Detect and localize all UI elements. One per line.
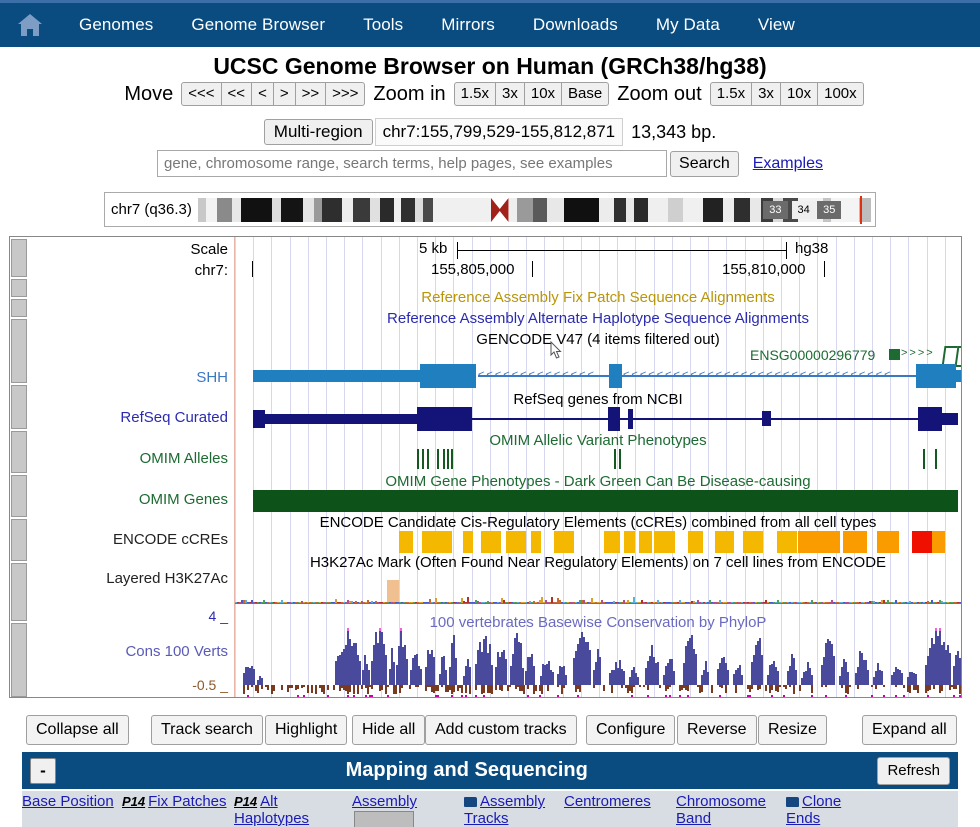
conservation-negative-bar <box>453 685 455 692</box>
ideogram-band <box>370 198 379 222</box>
track-handle-ruler[interactable] <box>11 239 27 277</box>
conservation-negative-cap <box>475 695 477 697</box>
conservation-saturation-cap <box>400 628 402 631</box>
conservation-negative-cap <box>353 695 355 697</box>
omim-allele-tick[interactable] <box>437 449 439 469</box>
conservation-negative-cap <box>577 695 579 697</box>
conservation-bar <box>777 671 779 685</box>
conservation-negative-bar <box>563 685 565 688</box>
conservation-negative-bar <box>639 685 641 687</box>
conservation-negative-cap <box>895 695 897 697</box>
conservation-negative-cap <box>771 695 773 697</box>
zoom-out-label: Zoom out <box>617 83 701 106</box>
conservation-negative-bar <box>603 685 605 691</box>
refseq-exon-5[interactable] <box>762 411 771 426</box>
omim-allele-tick[interactable] <box>614 449 616 469</box>
track-list-link[interactable]: Assembly <box>352 793 417 810</box>
conservation-negative-cap <box>825 695 827 697</box>
ccre-element[interactable] <box>624 531 635 553</box>
configure-button[interactable]: Configure <box>586 715 675 745</box>
shh-intron-line-1 <box>478 375 613 377</box>
ideogram-band <box>533 198 546 222</box>
conservation-bar <box>589 650 591 685</box>
conservation-negative-bar <box>323 685 325 694</box>
conservation-negative-bar <box>251 685 253 687</box>
ideogram-band <box>241 198 272 222</box>
ccre-element[interactable] <box>877 531 899 553</box>
move-label: Move <box>124 83 173 106</box>
track-title-refseq: RefSeq genes from NCBI <box>235 391 961 408</box>
conservation-bar <box>761 655 763 685</box>
nav-item-mirrors[interactable]: Mirrors <box>422 15 514 35</box>
conservation-negative-bar <box>593 685 595 688</box>
conservation-negative-bar <box>875 685 877 689</box>
conservation-negative-bar <box>315 685 317 694</box>
zoom-in-label: Zoom in <box>373 83 445 106</box>
conservation-negative-bar <box>557 685 559 687</box>
track-label-omim-genes[interactable]: OMIM Genes <box>139 491 228 508</box>
conservation-bar <box>867 670 869 685</box>
conservation-bar <box>847 672 849 685</box>
conservation-negative-cap <box>539 695 541 697</box>
nav-item-view[interactable]: View <box>739 15 814 35</box>
conservation-negative-bar <box>291 685 293 688</box>
track-data-column[interactable]: 5 kb hg38 155,805,000 155,810,000 Refere… <box>235 237 961 697</box>
patch-version-badge: P14 <box>234 794 257 809</box>
conservation-negative-bar <box>955 685 957 689</box>
conservation-negative-cap <box>783 695 785 697</box>
conservation-negative-cap <box>347 695 349 697</box>
conservation-bar <box>949 653 951 685</box>
ccre-element[interactable] <box>743 531 763 553</box>
conservation-negative-bar <box>395 685 397 694</box>
ccre-element[interactable] <box>843 531 867 553</box>
conservation-negative-bar <box>547 685 549 691</box>
ideogram-label: chr7 (q36.3) <box>105 201 198 218</box>
omim-allele-tick[interactable] <box>427 449 429 469</box>
refseq-exon-3[interactable] <box>608 407 620 431</box>
zoom-out-button-group: 1.5x 3x 10x 100x <box>710 82 864 106</box>
conservation-bar <box>833 656 835 685</box>
track-list-item[interactable]: Clone Ends <box>786 791 858 827</box>
conservation-bar <box>533 666 535 685</box>
track-title-fix-patch: Reference Assembly Fix Patch Sequence Al… <box>235 289 961 306</box>
track-label-omim-alleles[interactable]: OMIM Alleles <box>140 450 228 467</box>
resize-button[interactable]: Resize <box>758 715 827 745</box>
conservation-bar <box>522 668 524 685</box>
conservation-negative-bar <box>401 685 403 688</box>
conservation-negative-bar <box>857 685 859 689</box>
track-label-h3k27ac[interactable]: Layered H3K27Ac <box>106 570 228 587</box>
add-custom-tracks-button[interactable]: Add custom tracks <box>425 715 577 745</box>
collapse-all-button[interactable]: Collapse all <box>26 715 129 745</box>
conservation-bar <box>673 671 675 685</box>
refseq-intron-line-3 <box>633 418 762 420</box>
ideogram-band <box>564 198 599 222</box>
ideogram-band <box>634 198 647 222</box>
shh-exon-1[interactable] <box>253 370 420 382</box>
conservation-negative-bar <box>353 685 355 694</box>
track-title-ccre: ENCODE Candidate Cis-Regulatory Elements… <box>235 514 961 531</box>
omim-allele-tick[interactable] <box>417 449 419 469</box>
nav-item-genomes[interactable]: Genomes <box>60 15 172 35</box>
conservation-negative-bar <box>793 685 795 694</box>
page-title: UCSC Genome Browser on Human (GRCh38/hg3… <box>0 53 980 80</box>
shh-exon-2[interactable] <box>420 364 476 388</box>
move-button-group: <<< << < > >> >>> <box>181 82 365 106</box>
conservation-saturation-cap <box>347 628 349 631</box>
conservation-negative-cap <box>365 695 367 697</box>
conservation-negative-bar <box>441 685 443 687</box>
conservation-negative-bar <box>371 685 373 689</box>
conservation-negative-bar <box>779 685 781 687</box>
ccre-element[interactable] <box>715 531 733 553</box>
track-label-encode-ccres[interactable]: ENCODE cCREs <box>113 531 228 548</box>
track-label-chrom: chr7: <box>195 262 228 279</box>
conservation-negative-bar <box>501 685 503 691</box>
track-title-gencode: GENCODE V47 (4 items filtered out) <box>235 331 961 348</box>
ideogram-band-label: 34 <box>792 201 816 219</box>
conservation-negative-cap <box>959 695 961 697</box>
track-search-button[interactable]: Track search <box>151 715 263 745</box>
conservation-negative-bar <box>669 685 671 687</box>
zoom-in-base-button[interactable]: Base <box>561 82 609 106</box>
conservation-negative-bar <box>243 685 245 694</box>
conservation-negative-cap <box>749 695 751 697</box>
track-list-grid: Base PositionP14Fix PatchesP14Alt Haplot… <box>22 791 958 827</box>
search-button[interactable]: Search <box>670 151 739 177</box>
ccre-element[interactable] <box>932 531 945 553</box>
mapping-sequencing-section-header: - Mapping and Sequencing Refresh <box>22 752 958 789</box>
ccre-element[interactable] <box>639 531 652 553</box>
ccre-element[interactable] <box>422 531 453 553</box>
conservation-bar <box>393 662 395 685</box>
ideogram-band <box>648 198 668 222</box>
conservation-bar <box>901 673 903 685</box>
track-title-alt-hap: Reference Assembly Alternate Haplotype S… <box>235 310 961 327</box>
conservation-negative-bar <box>735 685 737 693</box>
track-list-link[interactable]: Fix Patches <box>148 793 226 810</box>
conservation-negative-cap <box>665 695 667 697</box>
track-handle-conservation[interactable] <box>11 623 27 697</box>
base-pair-count: 13,343 bp. <box>631 122 716 143</box>
centromere-marker <box>491 198 509 222</box>
patch-version-badge: P14 <box>122 794 145 809</box>
conservation-bar <box>637 677 639 685</box>
omim-allele-tick[interactable] <box>422 449 424 469</box>
conservation-negative-bar <box>361 685 363 689</box>
mouse-cursor <box>548 341 562 359</box>
ccre-element[interactable] <box>554 531 574 553</box>
reverse-button[interactable]: Reverse <box>677 715 757 745</box>
conservation-negative-bar <box>257 685 259 693</box>
shh-exon-3[interactable] <box>609 364 622 388</box>
conservation-negative-bar <box>281 685 283 690</box>
conservation-negative-cap <box>461 695 463 697</box>
ideogram-band <box>198 198 206 222</box>
ccre-element[interactable] <box>604 531 620 553</box>
ccre-element[interactable] <box>506 531 526 553</box>
track-label-refseq[interactable]: RefSeq Curated <box>120 409 228 426</box>
move-right-button[interactable]: > <box>273 82 296 106</box>
conservation-bar <box>253 669 255 685</box>
ccre-element[interactable] <box>688 531 703 553</box>
omim-gene-bar[interactable] <box>253 490 958 512</box>
nav-item-genome-browser[interactable]: Genome Browser <box>172 15 344 35</box>
ideogram-band <box>599 198 614 222</box>
ideogram-band <box>668 198 683 222</box>
ideogram-band <box>509 198 517 222</box>
conservation-bar <box>707 672 709 685</box>
track-list-item[interactable]: Centromeres <box>564 791 676 827</box>
nav-item-downloads[interactable]: Downloads <box>514 15 637 35</box>
conservation-negative-cap <box>927 695 929 697</box>
conservation-negative-bar <box>725 685 727 693</box>
ideogram-band <box>433 198 491 222</box>
conservation-negative-bar <box>621 685 623 688</box>
ideogram-band <box>734 198 750 222</box>
zoom-out-10x-button[interactable]: 10x <box>780 82 818 106</box>
conservation-negative-bar <box>759 685 761 689</box>
move-left-button[interactable]: < <box>251 82 274 106</box>
conservation-negative-cap <box>953 695 955 697</box>
conservation-negative-bar <box>541 685 543 694</box>
conservation-negative-bar <box>267 685 269 690</box>
position-row: Multi-region chr7:155,799,529-155,812,87… <box>0 118 980 146</box>
ideogram-position-marker <box>860 196 862 224</box>
zoom-in-3x-button[interactable]: 3x <box>495 82 525 106</box>
ideogram-band <box>750 198 761 222</box>
zoom-out-3x-button[interactable]: 3x <box>751 82 781 106</box>
conservation-negative-cap <box>451 695 453 697</box>
gencode-gene-exon[interactable] <box>889 349 900 360</box>
chromosome-ideogram[interactable]: chr7 (q36.3) 333435 <box>104 192 876 227</box>
track-list-item[interactable]: Base Position <box>22 791 122 827</box>
conservation-bar <box>505 659 507 685</box>
ideogram-band <box>314 198 322 222</box>
position-display[interactable]: chr7:155,799,529-155,812,871 <box>375 118 624 146</box>
conservation-negative-bar <box>297 685 299 689</box>
conservation-negative-cap <box>687 695 689 697</box>
examples-link[interactable]: Examples <box>753 155 823 173</box>
conservation-negative-cap <box>719 695 721 697</box>
conservation-negative-cap <box>437 695 439 697</box>
ideogram-bands[interactable]: 333435 <box>198 198 871 222</box>
refseq-exon-6b[interactable] <box>918 413 958 425</box>
conservation-negative-bar <box>417 685 419 687</box>
gencode-gene-label-text[interactable]: ENSG00000296779 <box>750 347 875 363</box>
zoom-in-1.5x-button[interactable]: 1.5x <box>454 82 496 106</box>
track-label-conservation[interactable]: Cons 100 Verts <box>125 643 228 660</box>
conservation-negative-cap <box>811 695 813 697</box>
track-handle-gencode[interactable] <box>11 319 27 383</box>
ideogram-band <box>703 198 723 222</box>
zoom-in-button-group: 1.5x 3x 10x Base <box>454 82 610 106</box>
conservation-bar <box>727 670 729 685</box>
track-title-omim-gene: OMIM Gene Phenotypes - Dark Green Can Be… <box>235 473 961 490</box>
refseq-exon-2[interactable] <box>417 407 472 431</box>
search-input[interactable] <box>157 150 667 177</box>
conservation-bar <box>623 671 625 685</box>
omim-allele-tick[interactable] <box>447 449 449 469</box>
track-handle-omim-genes[interactable] <box>11 475 27 517</box>
track-label-scale: Scale <box>190 241 228 258</box>
zoom-out-100x-button[interactable]: 100x <box>817 82 864 106</box>
omim-allele-tick[interactable] <box>443 449 445 469</box>
track-title-omim-allelic: OMIM Allelic Variant Phenotypes <box>235 432 961 449</box>
conservation-negative-bar <box>799 685 801 691</box>
conservation-saturation-cap <box>939 628 941 631</box>
track-handle-althap[interactable] <box>11 299 27 317</box>
conservation-bar <box>433 657 435 685</box>
conservation-bar <box>565 675 567 685</box>
conservation-negative-bar <box>579 685 581 692</box>
track-handle-h3k27ac[interactable] <box>11 563 27 621</box>
scale-ruler-line <box>457 250 787 251</box>
ideogram-band <box>303 198 314 222</box>
conservation-bar <box>695 654 697 685</box>
conservation-negative-bar <box>933 685 935 689</box>
track-list-item[interactable]: Assembly <box>352 791 464 827</box>
ideogram-band <box>614 198 626 222</box>
zoom-out-1.5x-button[interactable]: 1.5x <box>710 82 752 106</box>
section-collapse-button[interactable]: - <box>30 758 56 784</box>
ccre-element[interactable] <box>798 531 840 553</box>
folder-icon <box>786 797 799 807</box>
conservation-bar <box>491 665 493 685</box>
conservation-bar <box>881 671 883 685</box>
conservation-negative-bar <box>811 685 813 693</box>
ideogram-band <box>322 198 342 222</box>
shh-exon-4b[interactable] <box>916 370 962 382</box>
track-handle-omim-alleles[interactable] <box>11 431 27 473</box>
conservation-bar <box>915 674 917 685</box>
hide-all-button[interactable]: Hide all <box>352 715 425 745</box>
coord-tick-mark-2 <box>824 261 825 277</box>
conservation-negative-bar <box>909 685 911 693</box>
ideogram-band <box>342 198 353 222</box>
track-list-link[interactable]: Chromosome Band <box>676 793 766 827</box>
conservation-negative-cap <box>527 695 529 697</box>
conservation-negative-cap <box>465 695 467 697</box>
section-title: Mapping and Sequencing <box>56 759 877 782</box>
conservation-saturation-cap <box>379 628 381 631</box>
cons-axis-max-label: 4 _ <box>209 608 228 624</box>
conservation-negative-cap <box>387 695 389 697</box>
conservation-bar <box>368 670 370 685</box>
conservation-negative-bar <box>789 685 791 687</box>
ideogram-band <box>206 198 217 222</box>
conservation-bar <box>385 655 387 685</box>
conservation-negative-bar <box>721 685 723 688</box>
ccre-element[interactable] <box>777 531 797 553</box>
track-list-item[interactable]: Chromosome Band <box>676 791 786 827</box>
refseq-intron-line-4 <box>771 418 918 420</box>
ccre-element[interactable] <box>654 531 676 553</box>
omim-allele-tick[interactable] <box>619 449 621 469</box>
move-right-mid-button[interactable]: >> <box>295 82 327 106</box>
conservation-negative-bar <box>509 685 511 687</box>
conservation-negative-bar <box>959 685 961 694</box>
conservation-negative-bar <box>273 685 275 691</box>
conservation-negative-bar <box>849 685 851 687</box>
track-handle-refseq[interactable] <box>11 385 27 429</box>
omim-allele-tick[interactable] <box>451 449 453 469</box>
ideogram-band <box>217 198 232 222</box>
ideogram-band <box>517 198 533 222</box>
ccre-element[interactable] <box>399 531 414 553</box>
track-list-item[interactable]: P14Fix Patches <box>122 791 234 827</box>
conservation-negative-bar <box>461 685 463 693</box>
scale-value-label: 5 kb <box>419 240 447 257</box>
track-visibility-select[interactable] <box>354 811 414 827</box>
track-list-item[interactable]: Assembly Tracks <box>464 791 564 827</box>
conservation-negative-cap <box>557 695 559 697</box>
ccre-element[interactable] <box>912 531 932 553</box>
move-left-mid-button[interactable]: << <box>221 82 253 106</box>
conservation-bar <box>445 670 447 685</box>
refseq-exon-1b[interactable] <box>257 414 417 424</box>
track-list-link[interactable]: Centromeres <box>564 793 651 810</box>
nav-item-tools[interactable]: Tools <box>344 15 422 35</box>
ideogram-band <box>394 198 401 222</box>
track-title-h3k27ac: H3K27Ac Mark (Often Found Near Regulator… <box>235 554 961 571</box>
cons-axis-min-label: -0.5 _ <box>192 677 228 693</box>
ccre-element[interactable] <box>481 531 501 553</box>
move-right-far-button[interactable]: >>> <box>325 82 365 106</box>
conservation-bar <box>599 657 601 685</box>
conservation-negative-bar <box>491 685 493 694</box>
track-handle-ccre[interactable] <box>11 519 27 561</box>
scale-tick-right <box>786 242 787 259</box>
refseq-intron-line-1 <box>472 418 608 420</box>
conservation-bar <box>455 658 457 685</box>
conservation-negative-bar <box>895 685 897 687</box>
conservation-negative-bar <box>327 685 329 690</box>
conservation-negative-bar <box>437 685 439 691</box>
omim-allele-tick[interactable] <box>923 449 925 469</box>
conservation-negative-bar <box>771 685 773 690</box>
move-left-far-button[interactable]: <<< <box>181 82 221 106</box>
ideogram-band <box>547 198 565 222</box>
multi-region-button[interactable]: Multi-region <box>264 119 373 145</box>
refresh-button[interactable]: Refresh <box>877 757 950 785</box>
conservation-negative-bar <box>643 685 645 687</box>
ccre-element[interactable] <box>463 531 473 553</box>
home-icon[interactable] <box>0 12 60 38</box>
conservation-negative-bar <box>527 685 529 689</box>
zoom-in-10x-button[interactable]: 10x <box>524 82 562 106</box>
conservation-negative-bar <box>469 685 471 694</box>
conservation-negative-bar <box>917 685 919 693</box>
ccre-element[interactable] <box>531 531 541 553</box>
conservation-negative-bar <box>333 685 335 690</box>
track-list-link[interactable]: Base Position <box>22 793 114 810</box>
nav-item-my-data[interactable]: My Data <box>637 15 739 35</box>
conservation-negative-bar <box>821 685 823 687</box>
conservation-negative-bar <box>387 685 389 687</box>
track-label-shh[interactable]: SHH <box>196 369 228 386</box>
genome-track-viewport[interactable]: Scale chr7: SHH RefSeq Curated OMIM Alle… <box>9 236 962 698</box>
ideogram-band-label: 33 <box>763 201 787 219</box>
conservation-negative-bar <box>701 685 703 692</box>
track-handle-fixpatch[interactable] <box>11 279 27 297</box>
track-list-item[interactable]: P14Alt Haplotypes <box>234 791 352 827</box>
omim-allele-tick[interactable] <box>935 449 937 469</box>
expand-all-button[interactable]: Expand all <box>862 715 957 745</box>
highlight-button[interactable]: Highlight <box>265 715 347 745</box>
conservation-negative-bar <box>929 685 931 690</box>
